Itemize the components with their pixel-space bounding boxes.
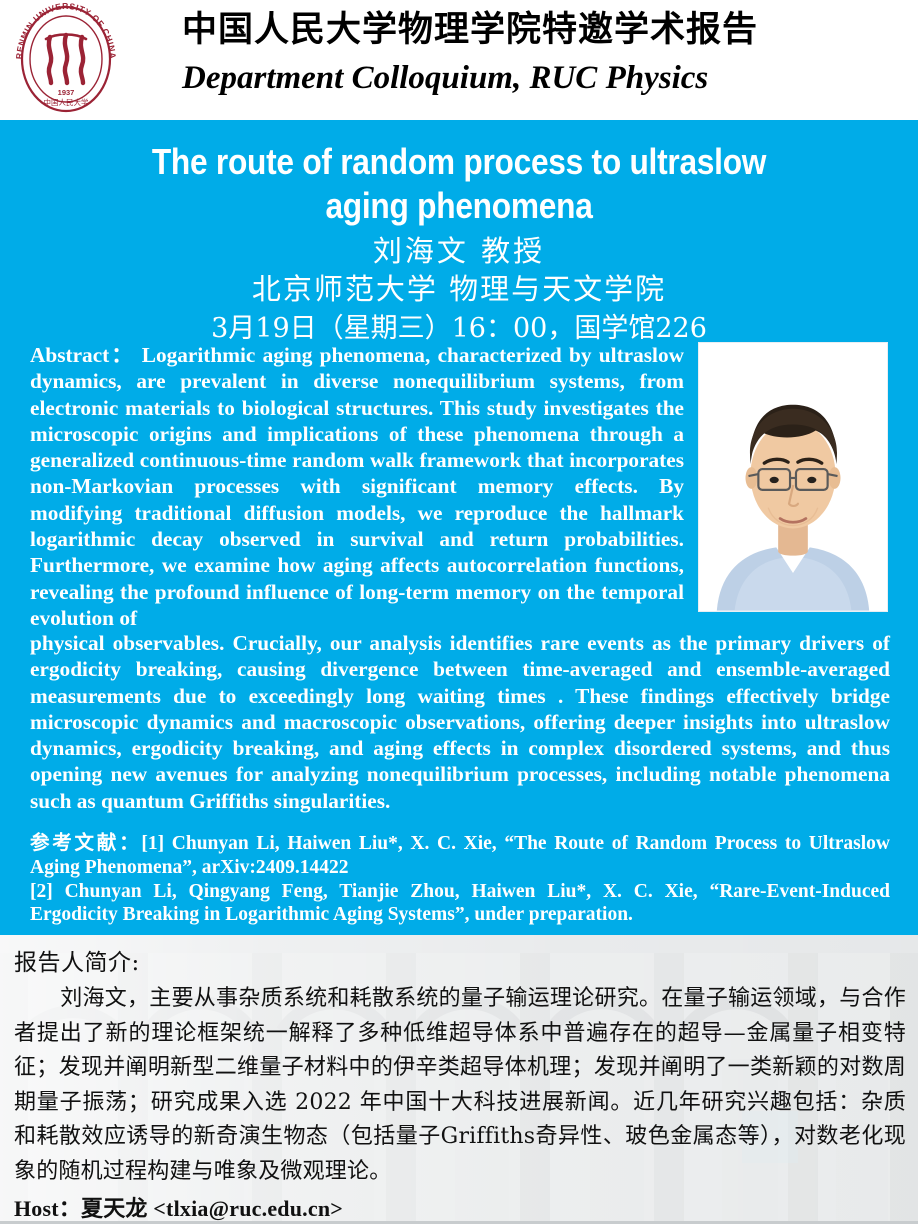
header-title-chinese: 中国人民大学物理学院特邀学术报告 [182,8,882,52]
speaker-affiliation: 北京师范大学 物理与天文学院 [0,270,918,308]
svg-text:1937: 1937 [58,88,75,97]
abstract-body-top: Logarithmic aging phenomena, characteriz… [30,343,684,630]
reference-text-1: [1] Chunyan Li, Haiwen Liu*, X. C. Xie, … [30,833,890,878]
seminar-poster: RENMIN UNIVERSITY OF CHINA 1937 中国人民大学 中… [0,0,918,1224]
references-label: 参考文献： [30,833,141,854]
poster-header: RENMIN UNIVERSITY OF CHINA 1937 中国人民大学 中… [0,0,918,120]
header-title-english: Department Colloquium, RUC Physics [182,55,882,101]
talk-title: The route of random process to ultraslow… [108,140,810,228]
host-line: Host：夏天龙 <tlxia@ruc.edu.cn> [14,1192,906,1224]
svg-text:中国人民大学: 中国人民大学 [44,97,89,107]
reference-text-2: [2] Chunyan Li, Qingyang Feng, Tianjie Z… [30,881,890,926]
ruc-university-logo: RENMIN UNIVERSITY OF CHINA 1937 中国人民大学 [12,3,120,115]
abstract-area: Abstract： Logarithmic aging phenomena, c… [30,342,888,631]
abstract-paragraph-continued: physical observables. Crucially, our ana… [30,630,890,814]
speaker-name: 刘海文 教授 [0,232,918,270]
bio-content: 报告人简介: 刘海文，主要从事杂质系统和耗散系统的量子输运理论研究。在量子输运领… [14,945,906,1224]
poster-main-blue-panel: The route of random process to ultraslow… [0,120,918,935]
abstract-label: Abstract： [30,343,134,367]
reference-item: 参考文献：[1] Chunyan Li, Haiwen Liu*, X. C. … [30,832,890,880]
references-block: 参考文献：[1] Chunyan Li, Haiwen Liu*, X. C. … [30,832,890,927]
reference-item: [2] Chunyan Li, Qingyang Feng, Tianjie Z… [30,880,890,928]
header-titles: 中国人民大学物理学院特邀学术报告 Department Colloquium, … [182,8,882,101]
speaker-bio-section: 报告人简介: 刘海文，主要从事杂质系统和耗散系统的量子输运理论研究。在量子输运领… [0,935,918,1224]
speaker-block: 刘海文 教授 北京师范大学 物理与天文学院 3月19日（星期三）16：00，国学… [0,232,918,348]
speaker-portrait [698,342,888,612]
bio-heading: 报告人简介: [14,945,906,981]
bio-paragraph: 刘海文，主要从事杂质系统和耗散系统的量子输运理论研究。在量子输运领域，与合作者提… [14,982,906,1189]
bio-paragraph-text: 刘海文，主要从事杂质系统和耗散系统的量子输运理论研究。在量子输运领域，与合作者提… [14,986,906,1184]
